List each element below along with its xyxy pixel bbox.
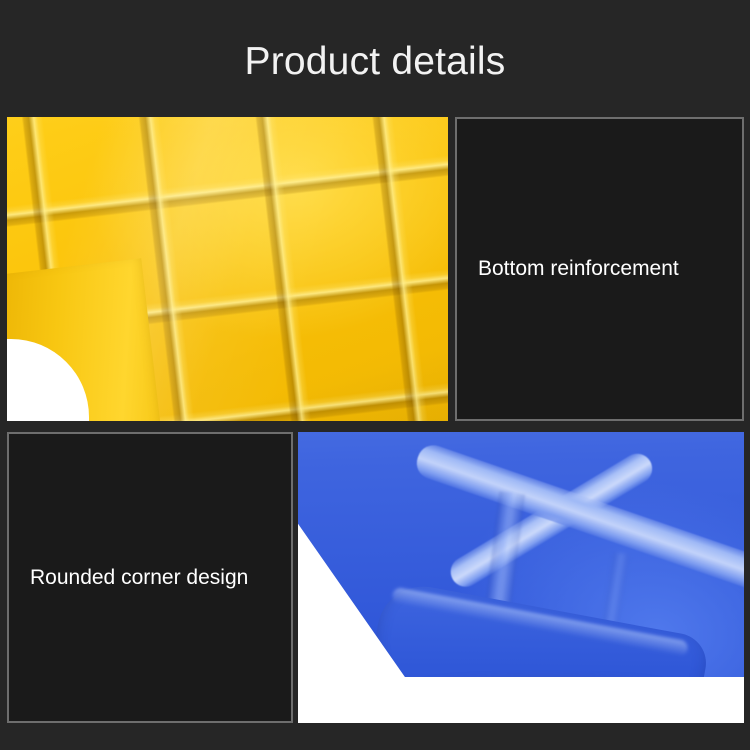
blue-crate-scene <box>298 432 744 723</box>
caption-box-bottom-reinforcement: Bottom reinforcement <box>455 117 744 421</box>
product-details-page: Product details Bottom reinforcement Rou… <box>0 0 750 750</box>
caption-box-rounded-corner-design: Rounded corner design <box>7 432 293 723</box>
detail-row-bottom-reinforcement: Bottom reinforcement <box>7 117 744 421</box>
caption-label-rounded-corner-design: Rounded corner design <box>9 564 258 592</box>
detail-row-rounded-corner-design: Rounded corner design <box>7 432 744 723</box>
product-photo-yellow-crate-bottom <box>7 117 448 421</box>
caption-label-bottom-reinforcement: Bottom reinforcement <box>457 255 689 283</box>
page-title: Product details <box>0 36 750 88</box>
product-photo-blue-crate-corner <box>298 432 744 723</box>
photo-background-bottom-strip <box>298 677 744 723</box>
